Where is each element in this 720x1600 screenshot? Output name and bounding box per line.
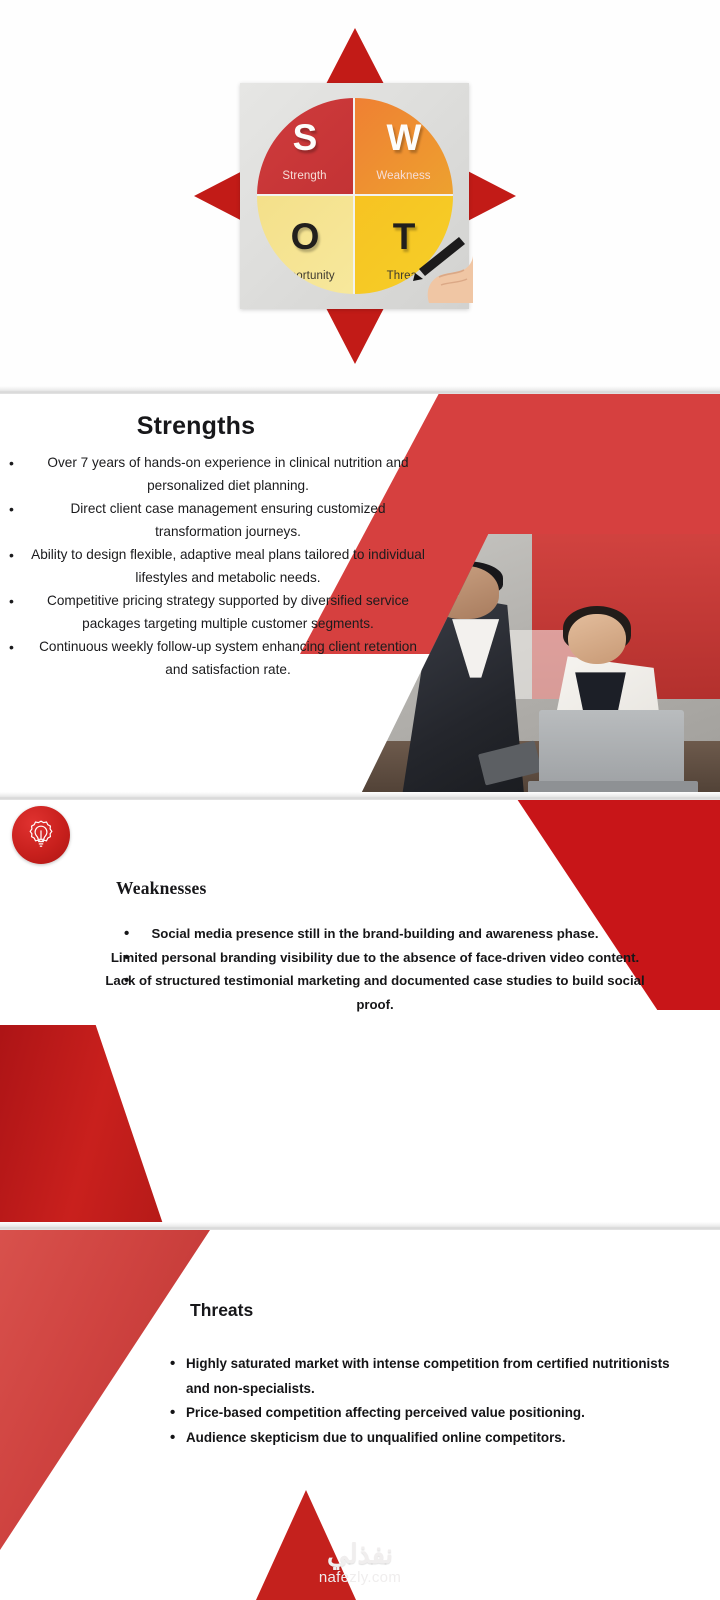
lightbulb-gear-icon xyxy=(24,818,58,852)
slide-swot-cover: S Strength W Weakness O Opportunity T Th… xyxy=(0,0,720,394)
weaknesses-badge xyxy=(12,806,70,864)
list-item: Continuous weekly follow-up system enhan… xyxy=(0,636,440,681)
swot-label-opportunity: Opportunity xyxy=(257,270,353,282)
strengths-list: Over 7 years of hands-on experience in c… xyxy=(0,452,440,682)
swot-letter-o: O xyxy=(257,218,353,255)
threats-title: Threats xyxy=(190,1300,253,1321)
weaknesses-title: Weaknesses xyxy=(116,878,206,899)
swot-presentation-deck: S Strength W Weakness O Opportunity T Th… xyxy=(0,0,720,1600)
list-item: Ability to design flexible, adaptive mea… xyxy=(0,544,440,589)
swot-quadrant-weakness: W Weakness xyxy=(355,98,453,196)
swot-diagram: S Strength W Weakness O Opportunity T Th… xyxy=(194,28,516,364)
list-item: Social media presence still in the brand… xyxy=(60,922,660,946)
swot-letter-w: W xyxy=(355,119,453,156)
photo-woman-head xyxy=(568,614,626,665)
list-item: Lack of structured testimonial marketing… xyxy=(60,969,660,1016)
list-item: Price-based competition affecting percei… xyxy=(170,1401,690,1426)
watermark-latin: nafezly.com xyxy=(0,1569,720,1586)
list-item: Highly saturated market with intense com… xyxy=(170,1352,690,1401)
list-item: Limited personal branding visibility due… xyxy=(60,946,660,970)
swot-card: S Strength W Weakness O Opportunity T Th… xyxy=(240,83,469,309)
swot-label-weakness: Weakness xyxy=(355,170,453,182)
swot-quadrant-opportunity: O Opportunity xyxy=(257,196,355,294)
list-item: Over 7 years of hands-on experience in c… xyxy=(0,452,440,497)
slide-threats: Threats Highly saturated market with int… xyxy=(0,1230,720,1600)
arrow-up-icon xyxy=(325,28,385,86)
threats-list: Highly saturated market with intense com… xyxy=(170,1352,690,1450)
swot-wheel: S Strength W Weakness O Opportunity T Th… xyxy=(257,98,453,294)
weaknesses-list: Social media presence still in the brand… xyxy=(60,922,660,1016)
list-item: Audience skepticism due to unqualified o… xyxy=(170,1426,690,1451)
list-item: Competitive pricing strategy supported b… xyxy=(0,590,440,635)
weaknesses-red-shape-bottom-left xyxy=(0,1025,165,1230)
swot-quadrant-strength: S Strength xyxy=(257,98,355,196)
list-item: Direct client case management ensuring c… xyxy=(0,498,440,543)
swot-label-strength: Strength xyxy=(257,170,353,182)
strengths-title: Strengths xyxy=(0,412,392,441)
swot-letter-s: S xyxy=(257,119,353,156)
swot-quadrant-threat: T Threat xyxy=(355,196,453,294)
swot-letter-t: T xyxy=(355,218,453,255)
slide-strengths: Strengths Over 7 years of hands-on exper… xyxy=(0,394,720,800)
watermark-arabic: نفذلي xyxy=(0,1541,720,1568)
arrow-down-icon xyxy=(325,306,385,364)
slide-weaknesses: Weaknesses Social media presence still i… xyxy=(0,800,720,1230)
threats-red-triangle-bottom xyxy=(256,1490,356,1600)
swot-label-threat: Threat xyxy=(355,270,453,282)
photo-laptop xyxy=(539,710,684,790)
watermark: نفذلي nafezly.com xyxy=(0,1541,720,1586)
